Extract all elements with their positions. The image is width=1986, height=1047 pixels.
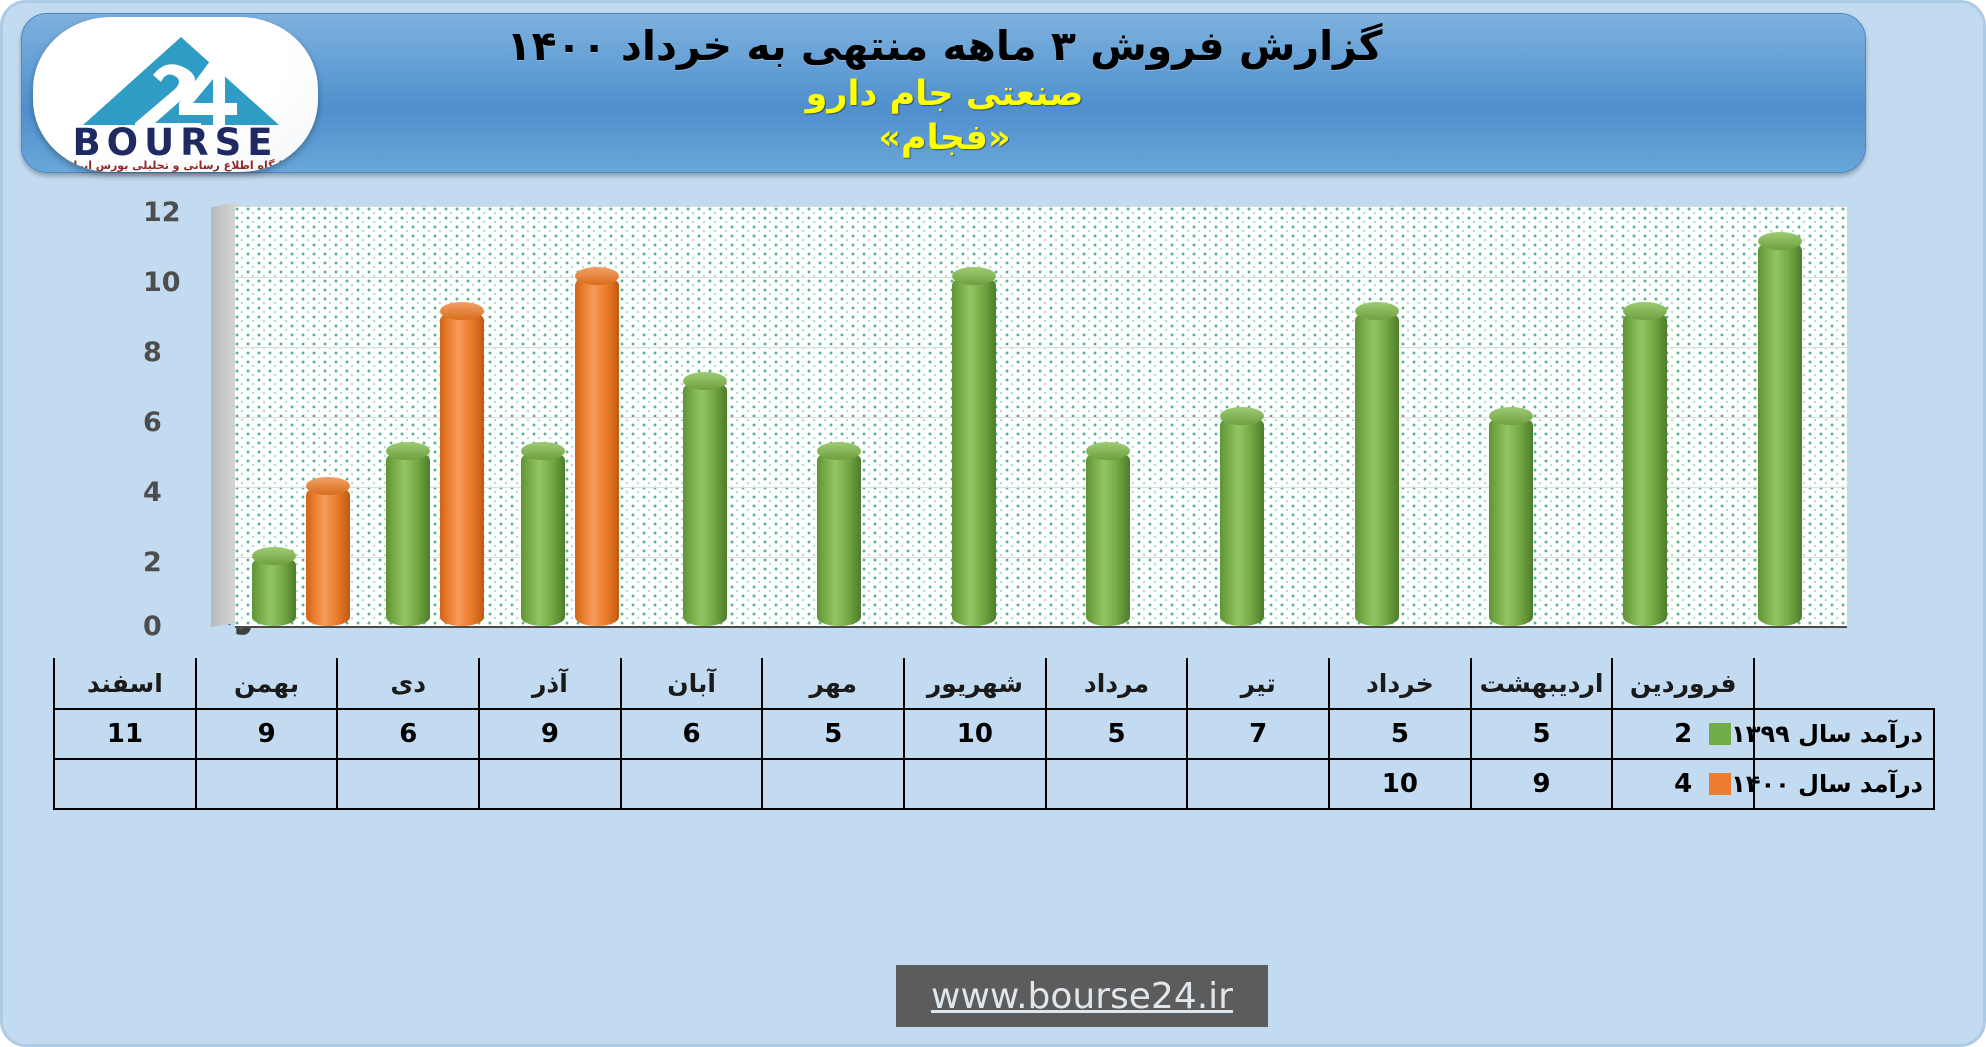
table-cell: 5	[762, 709, 904, 759]
bar-group	[1444, 206, 1578, 626]
legend-label: درآمد سال ۱۳۹۹	[1754, 709, 1934, 759]
bar-group	[907, 206, 1041, 626]
bar-body	[1355, 311, 1399, 626]
month-header: دی	[337, 658, 479, 709]
bar-cap	[1355, 302, 1399, 320]
bar-body	[1220, 416, 1264, 626]
table-cell	[904, 759, 1046, 809]
data-table: فروردیناردیبهشتخردادتیرمردادشهریورمهرآبا…	[53, 658, 1935, 810]
bar-cap	[521, 442, 565, 460]
bar-body	[683, 381, 727, 626]
table-cell	[1046, 759, 1188, 809]
month-header: فروردین	[1612, 658, 1754, 709]
bar-group	[504, 206, 638, 626]
bar-1399	[1758, 241, 1802, 626]
bar-cap	[1086, 442, 1130, 460]
bar-group	[235, 206, 369, 626]
table-row: درآمد سال ۱۴۰۰4910	[54, 759, 1934, 809]
bar-body	[252, 556, 296, 626]
bar-1399	[1220, 416, 1264, 626]
bar-cap	[1758, 232, 1802, 250]
bar-1400	[306, 486, 350, 626]
legend-swatch-icon	[1709, 723, 1731, 745]
bar-1399	[521, 451, 565, 626]
bar-body	[1623, 311, 1667, 626]
month-header: اسفند	[54, 658, 196, 709]
bar-cap	[952, 267, 996, 285]
bar-group	[369, 206, 503, 626]
bar-body	[440, 311, 484, 626]
bar-body	[521, 451, 565, 626]
brand-logo[interactable]: BOURSE پایگاه اطلاع رسانی و تحلیلی بورس …	[33, 17, 318, 172]
bar-body	[306, 486, 350, 626]
table-cell: 9	[479, 709, 621, 759]
plot-side-wall	[211, 203, 237, 627]
bar-1399	[1623, 311, 1667, 626]
bar-series-layer	[235, 206, 1847, 626]
bar-body	[1086, 451, 1130, 626]
table-cell: 9	[1471, 759, 1613, 809]
bar-group	[772, 206, 906, 626]
bar-body	[575, 276, 619, 626]
bar-1400	[440, 311, 484, 626]
month-header: مرداد	[1046, 658, 1188, 709]
table-cell: 5	[1471, 709, 1613, 759]
bar-1399	[817, 451, 861, 626]
bar-group	[1713, 206, 1847, 626]
table-cell: 11	[54, 709, 196, 759]
bar-1399	[1489, 416, 1533, 626]
logo-tagline: پایگاه اطلاع رسانی و تحلیلی بورس ایران	[33, 159, 318, 172]
bar-1399	[386, 451, 430, 626]
bar-1400	[575, 276, 619, 626]
table-cell	[54, 759, 196, 809]
bar-1399	[952, 276, 996, 626]
table-cell	[479, 759, 621, 809]
month-header: خرداد	[1329, 658, 1471, 709]
table-cell: 10	[904, 709, 1046, 759]
bar-body	[1489, 416, 1533, 626]
bar-group	[1041, 206, 1175, 626]
month-header: اردیبهشت	[1471, 658, 1613, 709]
x-axis-line	[235, 626, 1847, 628]
bar-cap	[575, 267, 619, 285]
table-corner	[1754, 658, 1934, 709]
bar-group	[1578, 206, 1712, 626]
month-header: شهریور	[904, 658, 1046, 709]
table-cell	[1187, 759, 1329, 809]
bar-1399	[1355, 311, 1399, 626]
table-cell: 5	[1046, 709, 1188, 759]
month-header: آبان	[621, 658, 763, 709]
table-cell: 7	[1187, 709, 1329, 759]
month-header: بهمن	[196, 658, 338, 709]
bar-cap	[306, 477, 350, 495]
data-table-wrapper: فروردیناردیبهشتخردادتیرمردادشهریورمهرآبا…	[55, 658, 1935, 810]
bar-group	[1175, 206, 1309, 626]
legend-label: درآمد سال ۱۴۰۰	[1754, 759, 1934, 809]
table-cell: 6	[621, 709, 763, 759]
bar-1399	[683, 381, 727, 626]
bar-body	[817, 451, 861, 626]
month-header: تیر	[1187, 658, 1329, 709]
table-cell	[621, 759, 763, 809]
table-cell	[762, 759, 904, 809]
bar-group	[638, 206, 772, 626]
bar-group	[1310, 206, 1444, 626]
table-row: درآمد سال ۱۳۹۹25575105696911	[54, 709, 1934, 759]
bar-1399	[1086, 451, 1130, 626]
bar-cap	[252, 547, 296, 565]
table-cell: 9	[196, 709, 338, 759]
month-header: مهر	[762, 658, 904, 709]
bar-body	[1758, 241, 1802, 626]
bar-body	[952, 276, 996, 626]
bar-cap	[683, 372, 727, 390]
bar-body	[386, 451, 430, 626]
bar-1399	[252, 556, 296, 626]
bar-cap	[1489, 407, 1533, 425]
month-header: آذر	[479, 658, 621, 709]
table-cell	[337, 759, 479, 809]
table-cell: 5	[1329, 709, 1471, 759]
table-cell: 6	[337, 709, 479, 759]
logo-wordmark: BOURSE	[33, 121, 318, 164]
website-url[interactable]: www.bourse24.ir	[896, 965, 1268, 1027]
table-cell: 10	[1329, 759, 1471, 809]
month-header-row: فروردیناردیبهشتخردادتیرمردادشهریورمهرآبا…	[54, 658, 1934, 709]
table-cell	[196, 759, 338, 809]
bourse24-mark-icon	[81, 35, 281, 127]
slide-canvas: گزارش فروش ۳ ماهه منتهی به خرداد ۱۴۰۰ صن…	[0, 0, 1986, 1047]
legend-swatch-icon	[1709, 773, 1731, 795]
